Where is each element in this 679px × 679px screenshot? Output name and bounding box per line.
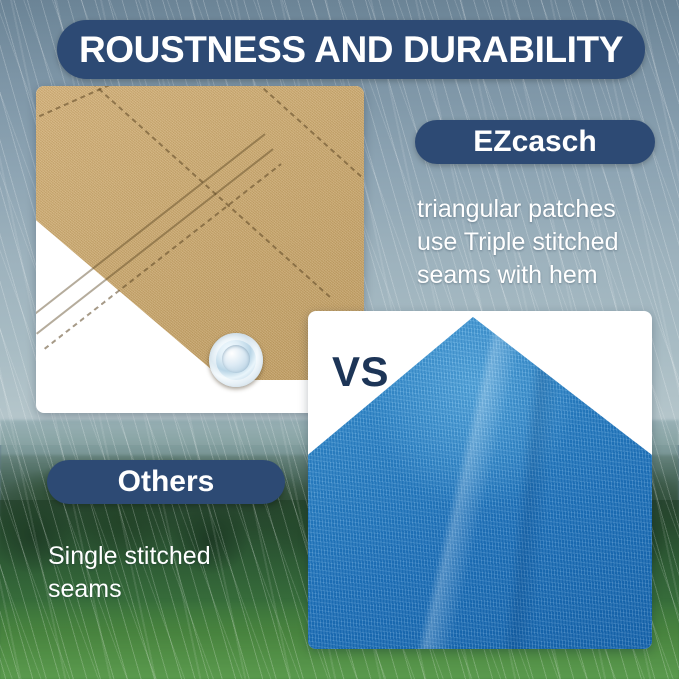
product-card-others: VS bbox=[308, 311, 652, 649]
page-title: ROUSTNESS AND DURABILITY bbox=[57, 20, 645, 79]
promo-image: ROUSTNESS AND DURABILITY VS EZcasch tria… bbox=[0, 0, 679, 679]
metal-grommet bbox=[209, 333, 263, 387]
brand-badge-ezcasch: EZcasch bbox=[415, 120, 655, 164]
vs-label: VS bbox=[332, 348, 389, 396]
others-description: Single stitched seams bbox=[48, 540, 298, 606]
badge-others: Others bbox=[47, 460, 285, 504]
ezcasch-description: triangular patches use Triple stitched s… bbox=[417, 193, 662, 292]
